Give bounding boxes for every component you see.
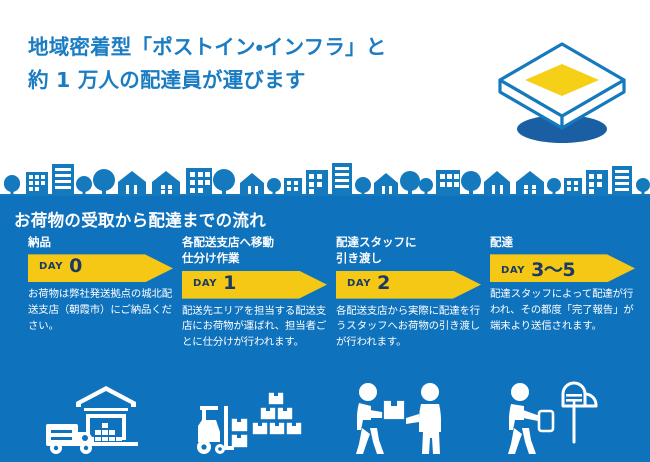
step-title-1: 各配送支店へ移動 仕分け作業: [182, 234, 334, 267]
day-number-2: 2: [377, 272, 390, 294]
step-title-2: 配達スタッフに 引き渡し: [336, 234, 488, 267]
hero-section: 地域密着型「ポストイン・インフラ」と 約 1 万人の配達員が運びます: [0, 0, 650, 160]
arrow-label: DAY 3〜5: [501, 254, 575, 282]
day-number-1: 1: [223, 272, 236, 294]
day-number-3: 3〜5: [531, 255, 575, 282]
arrow-label: DAY 1: [193, 271, 236, 299]
day-word-1: DAY: [193, 278, 217, 289]
day-word-3: DAY: [501, 265, 525, 276]
step-body-3: 配達スタッフによって配達が行われ、その都度「完了報告」が端末より送信されます。: [490, 287, 636, 334]
arrow-label: DAY 2: [347, 271, 390, 299]
step-body-0: お荷物は弊社発送拠点の城北配送支店（朝霞市）にご納品ください。: [28, 287, 174, 334]
step-icons-1: [190, 380, 315, 458]
step-column-2: 配達スタッフに 引き渡し DAY 2 各配送支店から実際に配達を行うスタッフへお…: [336, 234, 488, 351]
page-title: 地域密着型「ポストイン・インフラ」と 約 1 万人の配達員が運びます: [28, 31, 448, 97]
day-badge-1: DAY 1: [182, 271, 327, 299]
day-word-2: DAY: [347, 278, 371, 289]
step-icons-3: [500, 380, 620, 458]
step-icons-2: [346, 380, 466, 458]
arrow-label: DAY 0: [39, 254, 82, 282]
step-column-1: 各配送支店へ移動 仕分け作業 DAY 1 配送先エリアを担当する配送支店にお荷物…: [182, 234, 334, 351]
package-box-icon: [482, 28, 642, 148]
step-title-0: 納品: [28, 234, 180, 250]
day-number-0: 0: [69, 255, 82, 277]
day-badge-2: DAY 2: [336, 271, 481, 299]
day-badge-0: DAY 0: [28, 254, 173, 282]
day-word-0: DAY: [39, 261, 63, 272]
day-badge-3: DAY 3〜5: [490, 254, 635, 282]
step-body-2: 各配送支店から実際に配達を行うスタッフへお荷物の引き渡しが行われます。: [336, 304, 482, 351]
step-column-0: 納品 DAY 0 お荷物は弊社発送拠点の城北配送支店（朝霞市）にご納品ください。: [28, 234, 180, 335]
step-body-1: 配送先エリアを担当する配送支店にお荷物が運ばれ、担当者ごとに仕分けが行われます。: [182, 304, 328, 351]
step-column-3: 配達 DAY 3〜5 配達スタッフによって配達が行われ、その都度「完了報告」が端…: [490, 234, 642, 335]
step-icons-0: [40, 380, 160, 458]
process-flow-panel: お荷物の受取から配達までの流れ 納品 DAY 0 お荷物は弊社発送拠点の城北配送…: [0, 196, 650, 462]
step-title-3: 配達: [490, 234, 642, 250]
panel-heading: お荷物の受取から配達までの流れ: [14, 207, 266, 231]
